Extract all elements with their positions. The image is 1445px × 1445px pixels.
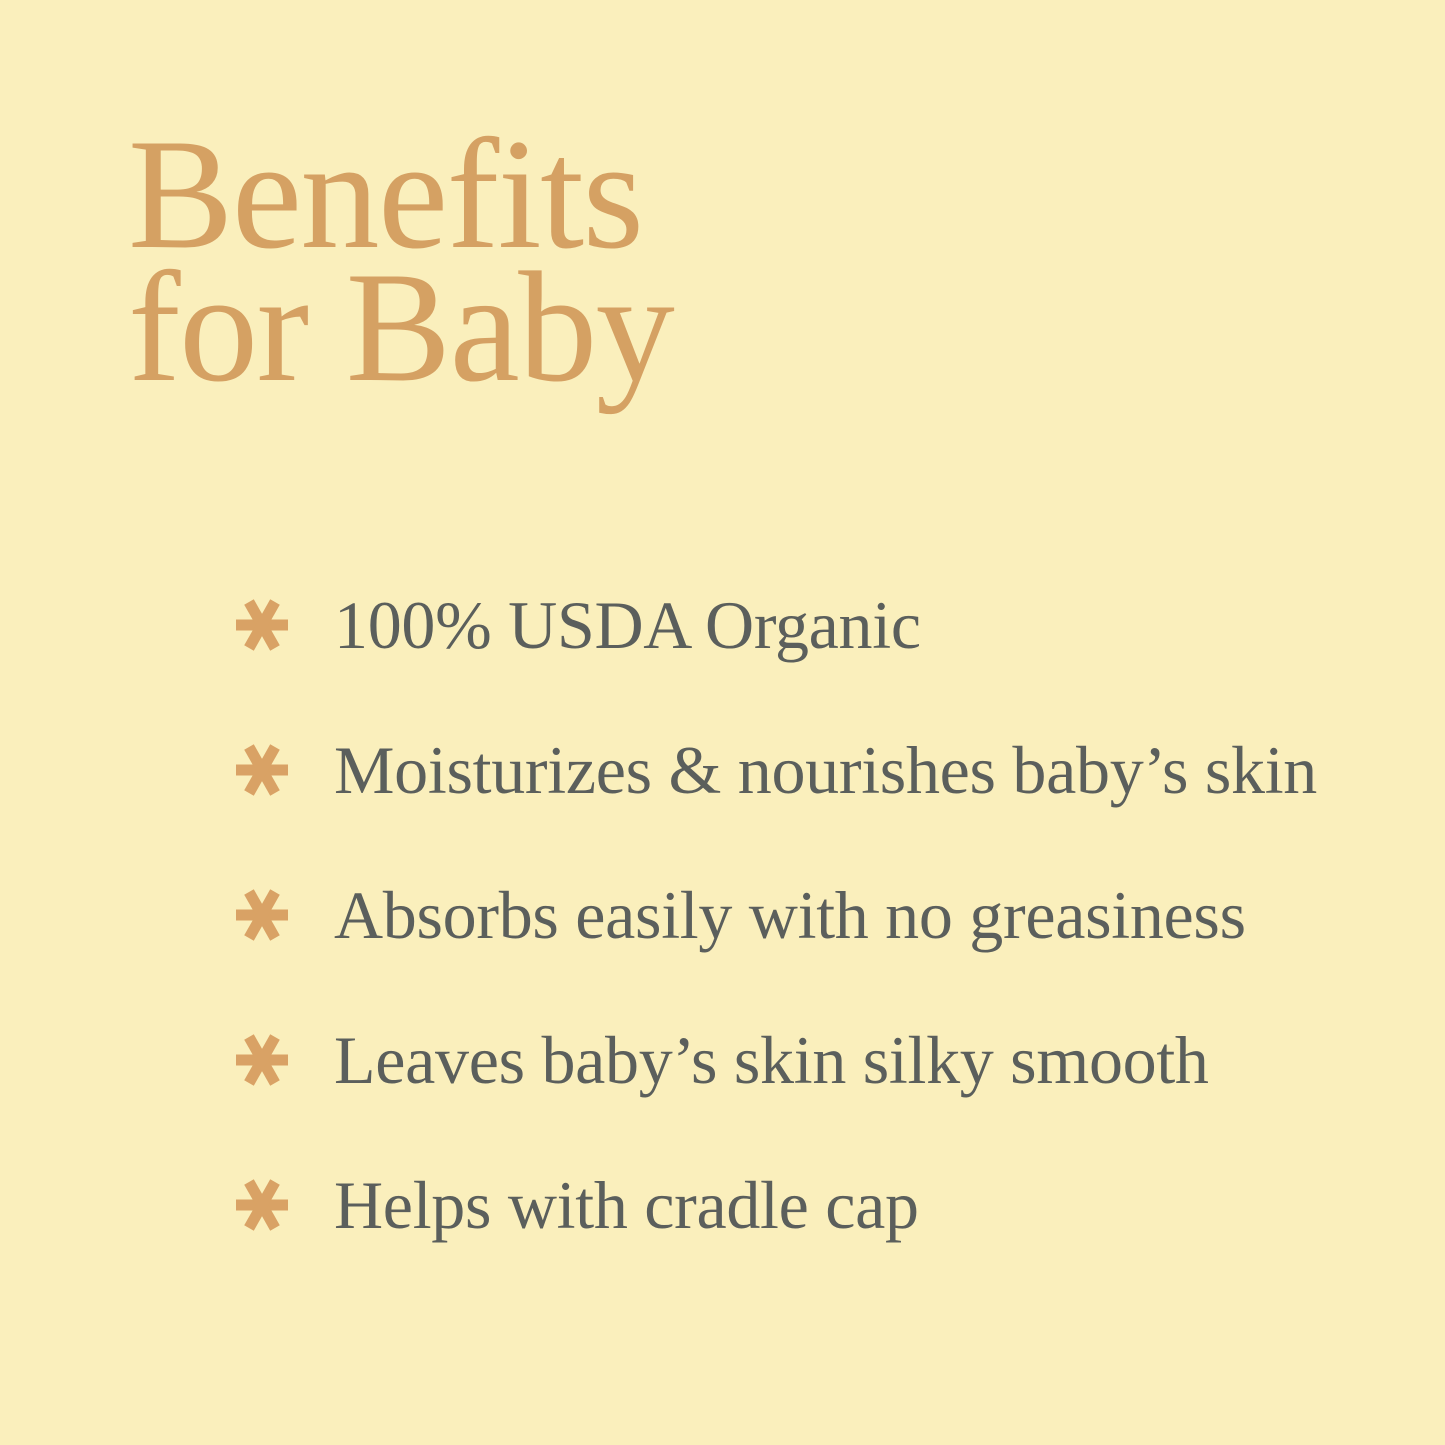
asterisk-six-point-icon bbox=[232, 1030, 292, 1090]
benefits-list: 100% USDA Organic Moisturizes & nourishe… bbox=[232, 552, 1412, 1277]
asterisk-six-point-icon bbox=[232, 1175, 292, 1235]
list-item: Leaves baby’s skin silky smooth bbox=[232, 987, 1412, 1132]
page-title: Benefits for Baby bbox=[128, 128, 1028, 394]
list-item: Moisturizes & nourishes baby’s skin bbox=[232, 697, 1412, 842]
list-item-label: 100% USDA Organic bbox=[334, 589, 1412, 661]
list-item-label: Moisturizes & nourishes baby’s skin bbox=[334, 734, 1412, 806]
list-item-label: Helps with cradle cap bbox=[334, 1169, 1412, 1241]
list-item-label: Absorbs easily with no greasiness bbox=[334, 879, 1412, 951]
asterisk-six-point-icon bbox=[232, 595, 292, 655]
list-item: 100% USDA Organic bbox=[232, 552, 1412, 697]
page-title-line-2: for Baby bbox=[128, 261, 1028, 394]
asterisk-six-point-icon bbox=[232, 740, 292, 800]
list-item: Helps with cradle cap bbox=[232, 1132, 1412, 1277]
list-item: Absorbs easily with no greasiness bbox=[232, 842, 1412, 987]
list-item-label: Leaves baby’s skin silky smooth bbox=[334, 1024, 1412, 1096]
asterisk-six-point-icon bbox=[232, 885, 292, 945]
benefits-for-baby-card: Benefits for Baby 100% USDA Organic bbox=[0, 0, 1445, 1445]
